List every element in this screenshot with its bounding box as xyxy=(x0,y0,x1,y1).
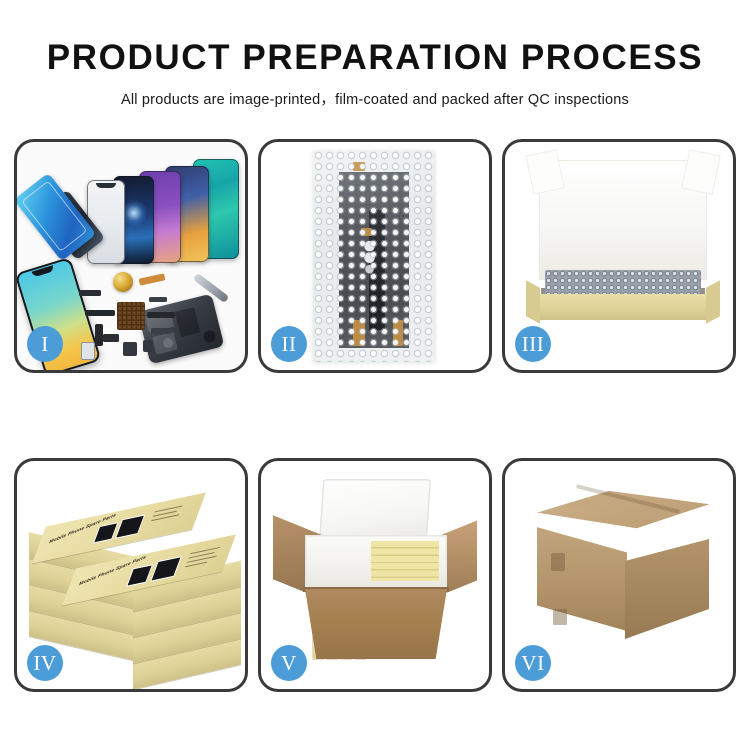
process-step-1: I xyxy=(14,139,248,373)
screen-flex-strip xyxy=(369,210,385,330)
step-badge-5: V xyxy=(271,645,307,681)
carton-left-face xyxy=(537,525,627,631)
tape-tab-4 xyxy=(393,320,403,346)
page-subtitle: All products are image-printed，film-coat… xyxy=(0,88,750,109)
tape-tab-2 xyxy=(361,228,372,236)
step-badge-3: III xyxy=(515,326,551,362)
carton-tab-1 xyxy=(551,553,565,571)
wrapped-screen xyxy=(339,172,409,348)
copper-grid-part xyxy=(117,302,145,330)
tape-tab-3 xyxy=(353,320,365,346)
white-foam-sheet xyxy=(539,160,707,280)
small-part-2 xyxy=(123,342,137,356)
foam-insert xyxy=(305,535,447,593)
box-window-2 xyxy=(115,514,145,538)
step-badge-6: VI xyxy=(515,645,551,681)
small-part-3 xyxy=(143,340,153,352)
inner-box-layer xyxy=(371,541,439,581)
carton-tab-2 xyxy=(553,609,567,625)
process-step-grid: I II xyxy=(14,139,736,692)
part-bar-3 xyxy=(103,334,119,342)
kraft-box-front xyxy=(535,294,711,320)
bubble-wrap-bag xyxy=(313,150,435,362)
gold-coil-part xyxy=(113,272,133,292)
flex-cable-3 xyxy=(147,312,175,318)
flex-cable-4 xyxy=(95,324,103,346)
step-badge-2: II xyxy=(271,326,307,362)
part-bar-1 xyxy=(79,290,101,296)
process-step-5: V xyxy=(258,458,492,692)
product-preparation-infographic: PRODUCT PREPARATION PROCESS All products… xyxy=(0,0,750,750)
step-badge-4: IV xyxy=(27,645,63,681)
box-window-4 xyxy=(150,556,182,582)
part-bar-4 xyxy=(151,328,171,334)
part-bar-2 xyxy=(149,297,167,302)
step-badge-1: I xyxy=(27,326,63,362)
box-window-1 xyxy=(93,522,118,543)
foam-lid xyxy=(319,479,431,541)
box-stack: Mobile Phone Spare Parts Mobile Phone Sp… xyxy=(23,487,241,665)
carton-front-wall xyxy=(305,589,447,659)
shipping-carton xyxy=(527,491,717,647)
flex-cable-1 xyxy=(139,273,166,285)
bubble-wrapped-contents xyxy=(545,270,701,296)
carton-right-face xyxy=(625,539,709,639)
small-part-4 xyxy=(163,338,173,348)
small-part-1 xyxy=(81,342,95,360)
process-step-3: III xyxy=(502,139,736,373)
header: PRODUCT PREPARATION PROCESS All products… xyxy=(0,0,750,109)
box-window-3 xyxy=(126,564,153,587)
camera-module xyxy=(363,240,376,274)
flex-cable-2 xyxy=(85,310,115,316)
process-step-4: Mobile Phone Spare Parts Mobile Phone Sp… xyxy=(14,458,248,692)
process-step-2: II xyxy=(258,139,492,373)
tape-tab-1 xyxy=(353,162,365,171)
process-step-6: VI xyxy=(502,458,736,692)
page-title: PRODUCT PREPARATION PROCESS xyxy=(0,40,750,75)
